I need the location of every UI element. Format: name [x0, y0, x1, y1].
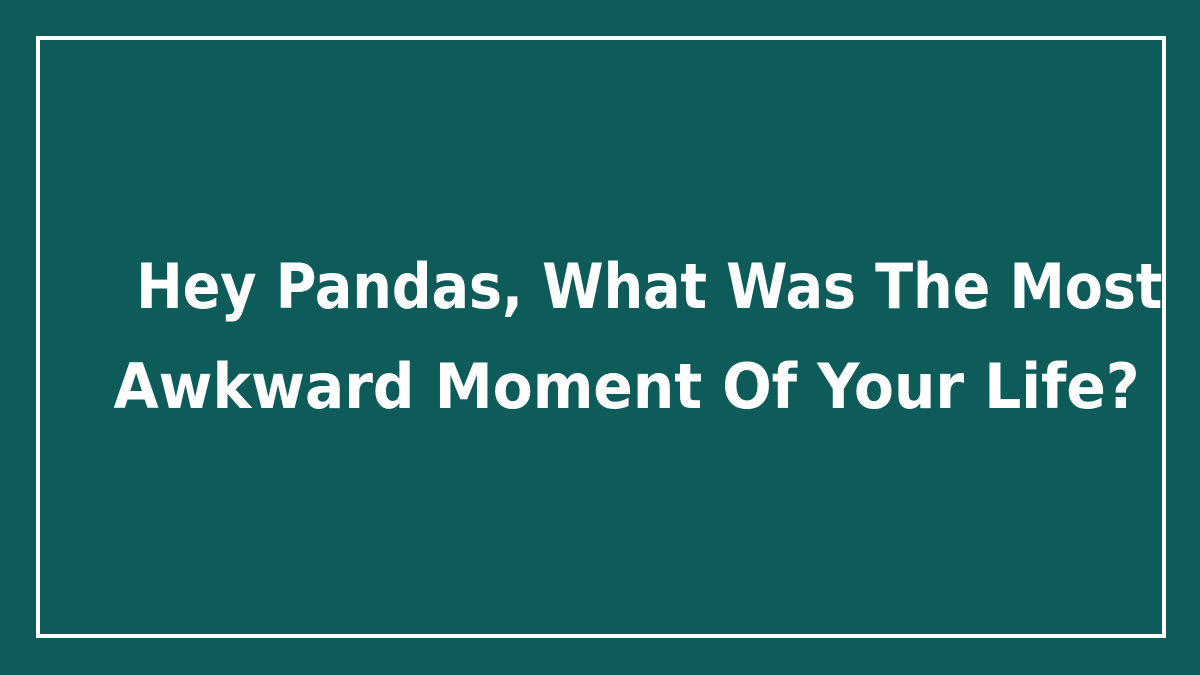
headline-line-1: Hey Pandas, What Was The Most — [136, 237, 1066, 337]
headline-block: Hey Pandas, What Was The Most Awkward Mo… — [36, 36, 1166, 638]
headline-line-2: Awkward Moment Of Your Life? — [113, 337, 1088, 437]
title-card: Hey Pandas, What Was The Most Awkward Mo… — [0, 0, 1200, 675]
